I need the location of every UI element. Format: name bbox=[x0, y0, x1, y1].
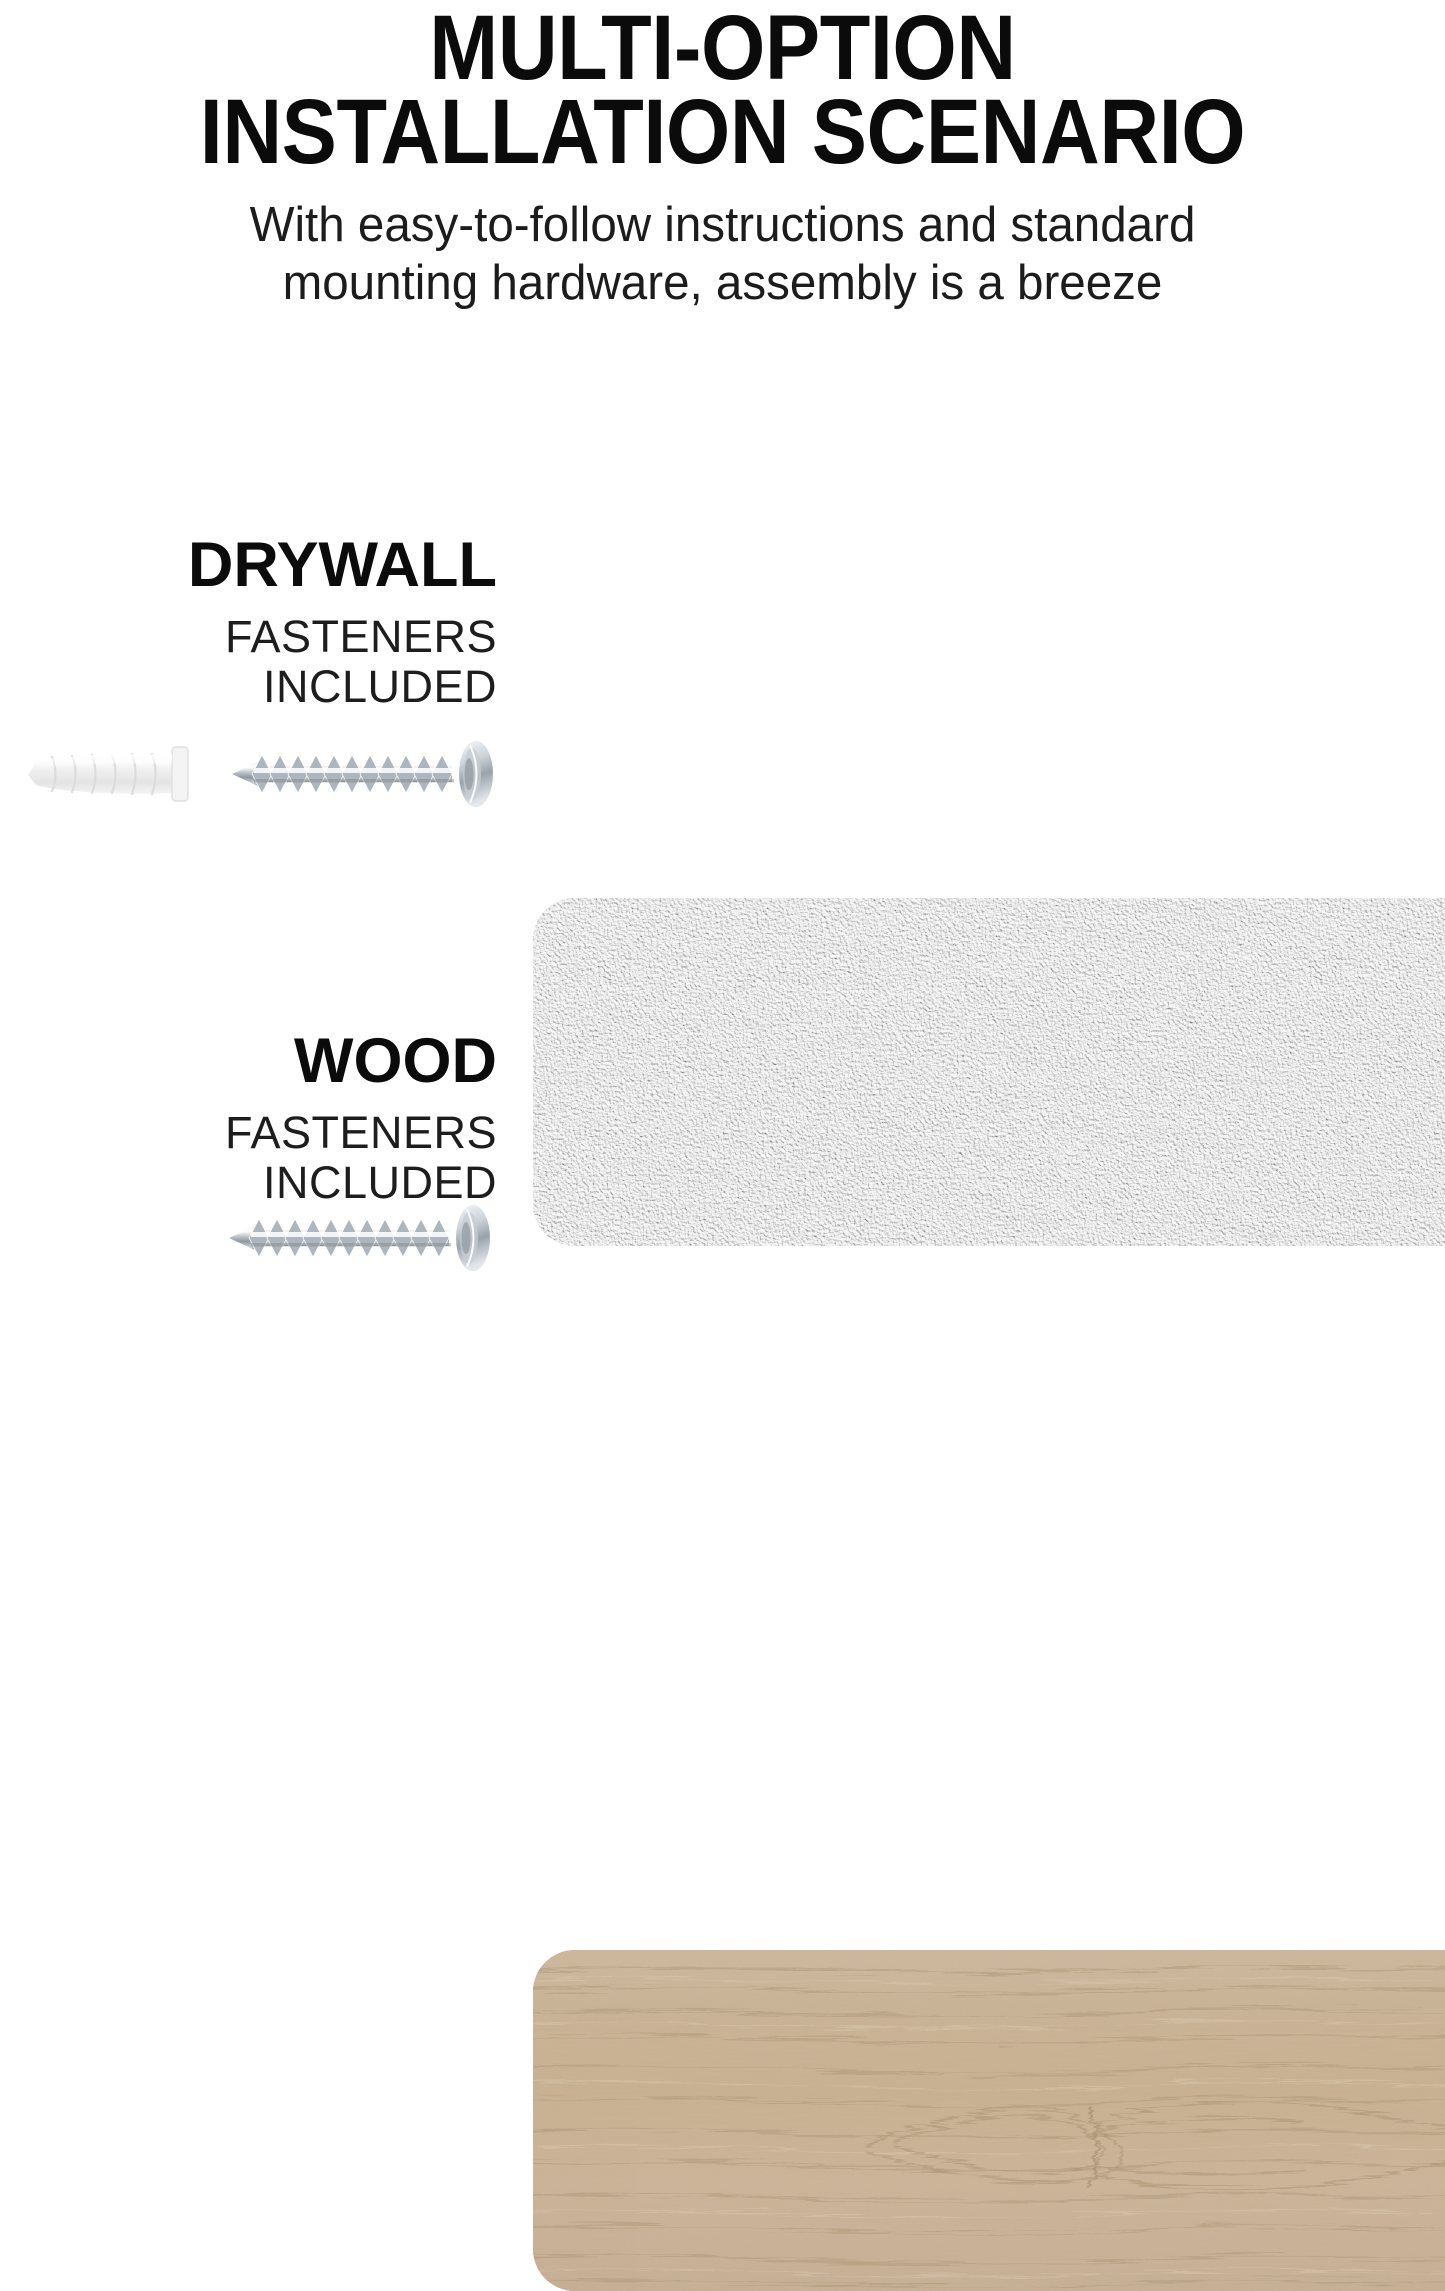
page-title: MULTI-OPTION INSTALLATION SCENARIO bbox=[72, 0, 1373, 174]
wood-heading: WOOD bbox=[0, 1028, 497, 1094]
drywall-hardware-group bbox=[0, 725, 520, 825]
wood-screw-icon bbox=[225, 1199, 500, 1282]
wood-grain-texture bbox=[533, 1950, 1445, 2291]
drywall-section: DRYWALL FASTENERS INCLUDED bbox=[0, 440, 1445, 820]
wood-grain-panel bbox=[533, 1950, 1445, 2291]
page-subtitle: With easy-to-follow instructions and sta… bbox=[22, 196, 1424, 312]
drywall-label-column: DRYWALL FASTENERS INCLUDED bbox=[0, 532, 497, 712]
drywall-screw-icon bbox=[228, 735, 503, 818]
plastic-wall-anchor-icon bbox=[22, 741, 212, 810]
drywall-heading: DRYWALL bbox=[0, 532, 497, 598]
wood-section: WOOD FASTENERS INCLUDED bbox=[0, 965, 1445, 1334]
header-block: MULTI-OPTION INSTALLATION SCENARIO With … bbox=[0, 0, 1445, 312]
wood-label-column: WOOD FASTENERS INCLUDED bbox=[0, 1028, 497, 1208]
drywall-fasteners-label: FASTENERS INCLUDED bbox=[0, 612, 497, 712]
wood-hardware-group bbox=[0, 1187, 520, 1287]
